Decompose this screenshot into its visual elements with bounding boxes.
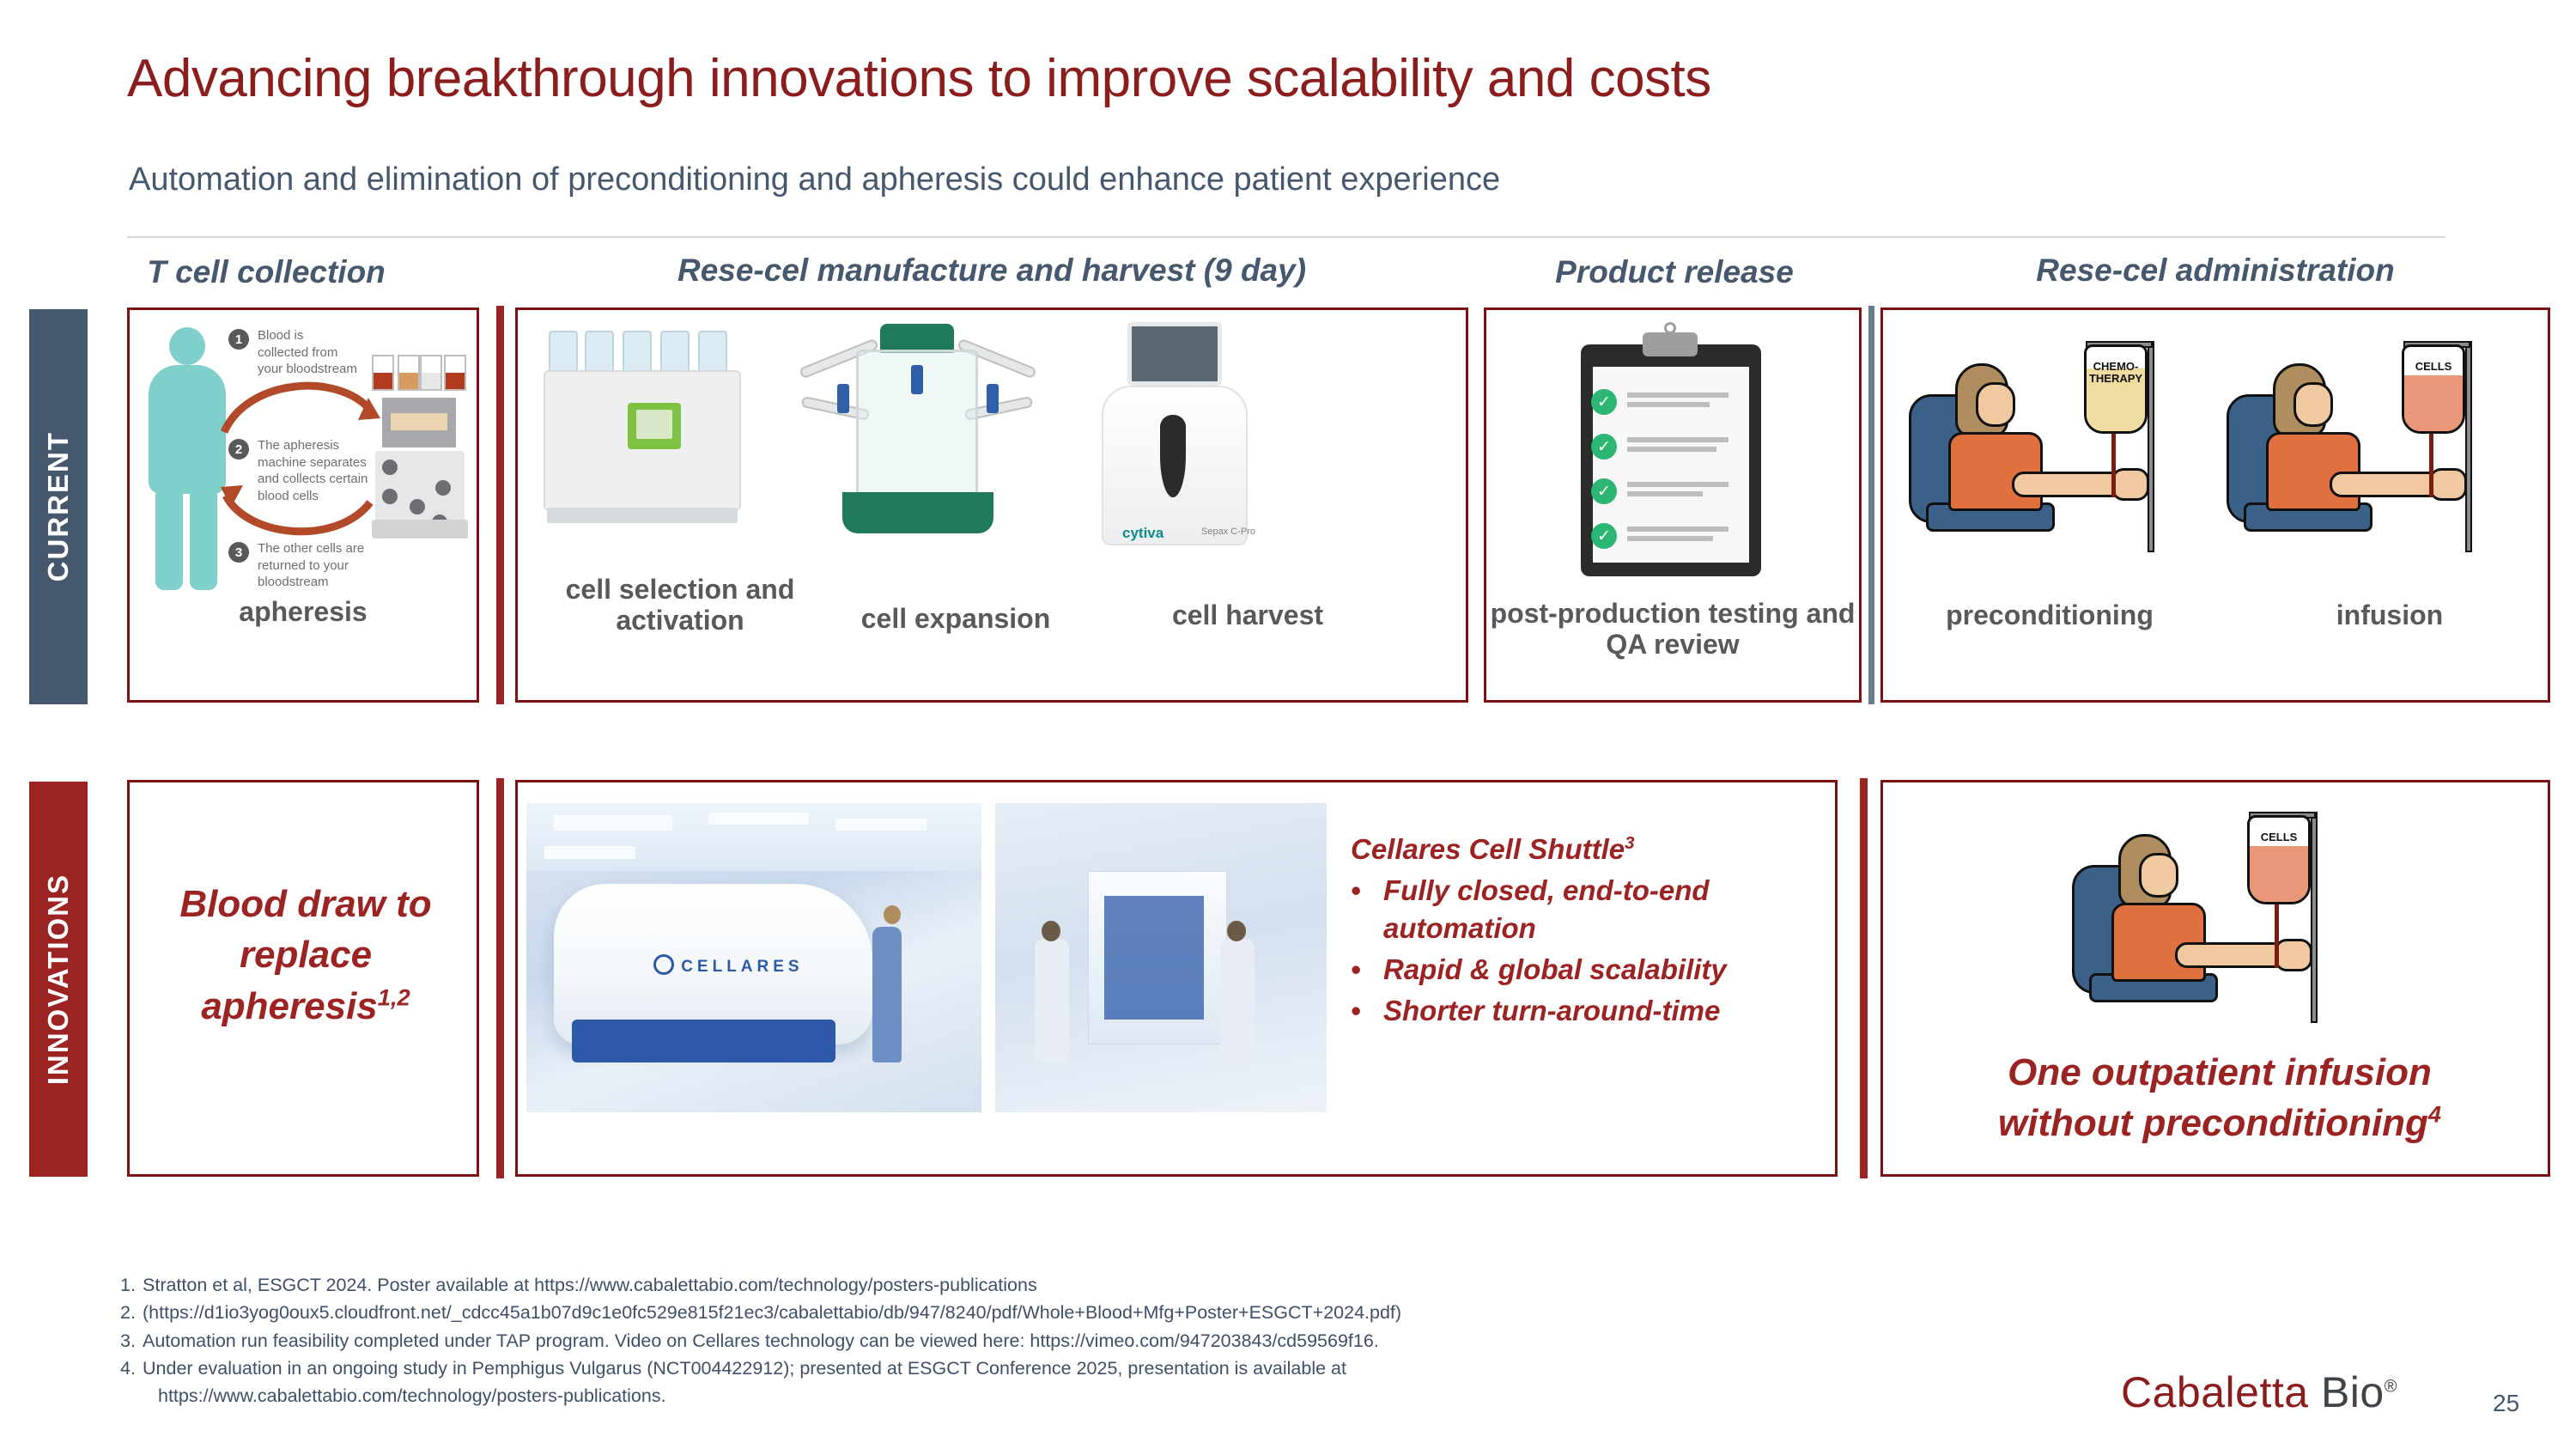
- apheresis-step-1: 1 Blood is collected from your bloodstre…: [228, 327, 357, 378]
- photo-cellares-brand: CELLARES: [681, 958, 803, 977]
- innovation-outpatient-line1: One outpatient infusion: [1892, 1047, 2548, 1098]
- logo-bio: Bio: [2321, 1368, 2385, 1416]
- iv-pole-icon: [2311, 812, 2318, 1023]
- panel-innovation-collection: Blood draw to replace apheresis1,2: [127, 780, 479, 1177]
- divider-innovation-2: [1860, 778, 1868, 1178]
- divider-current-2: [1868, 306, 1874, 704]
- page-subtitle: Automation and elimination of preconditi…: [129, 161, 1500, 198]
- caption-preconditioning: preconditioning: [1869, 600, 2230, 631]
- step-text-1: Blood is collected from your bloodstream: [258, 327, 357, 378]
- innovation-outpatient-text: One outpatient infusion without precondi…: [1892, 1047, 2548, 1149]
- footnote-number: 4.: [120, 1355, 143, 1382]
- row-label-innovations: INNOVATIONS: [29, 782, 88, 1177]
- step-text-3: The other cells are returned to your blo…: [258, 540, 366, 591]
- check-icon: ✓: [1591, 523, 1617, 549]
- cell-selection-machine-icon: [544, 331, 744, 533]
- innovation-cellares-heading: Cellares Cell Shuttle3: [1351, 831, 1814, 868]
- row-label-current-text: CURRENT: [42, 431, 75, 581]
- footnote-2: 2. (https://d1io3yog0oux5.cloudfront.net…: [120, 1299, 1923, 1326]
- iv-bag-cells-label: CELLS: [2250, 831, 2308, 843]
- panel-current-release: ✓ ✓ ✓ ✓ post-production testing and QA r…: [1484, 307, 1862, 703]
- divider-innovation-1: [496, 778, 504, 1178]
- footnote-text: (https://d1io3yog0oux5.cloudfront.net/_c…: [143, 1299, 1923, 1326]
- check-icon: ✓: [1591, 478, 1617, 504]
- caption-cell-selection: cell selection and activation: [538, 575, 822, 636]
- caption-post-production: post-production testing and QA review: [1490, 599, 1856, 661]
- bullet-text: Shorter turn-around-time: [1383, 992, 1814, 1030]
- column-header-product-release: Product release: [1485, 254, 1863, 290]
- page-title: Advancing breakthrough innovations to im…: [127, 48, 1711, 109]
- iv-tube: [2429, 434, 2433, 497]
- iv-bag-cells-label: CELLS: [2404, 361, 2463, 373]
- list-item: •Rapid & global scalability: [1351, 951, 1814, 989]
- iv-pole-icon: [2148, 341, 2154, 552]
- iv-tube: [2111, 434, 2116, 497]
- caption-infusion: infusion: [2218, 600, 2561, 631]
- caption-cell-harvest: cell harvest: [1110, 600, 1385, 631]
- panel-current-collection: 1 Blood is collected from your bloodstre…: [127, 307, 479, 703]
- iv-pole-icon: [2465, 341, 2472, 552]
- apheresis-step-3: 3 The other cells are returned to your b…: [228, 540, 366, 591]
- innovation-outpatient-line2-wrap: without preconditioning4: [1892, 1098, 2548, 1148]
- footnote-text: Automation run feasibility completed und…: [143, 1327, 1923, 1355]
- column-header-administration: Rese-cel administration: [1880, 253, 2550, 289]
- page-number: 25: [2493, 1390, 2519, 1417]
- innovation-blood-draw-text: Blood draw to replace apheresis1,2: [150, 879, 461, 1032]
- step-number-2: 2: [228, 439, 249, 460]
- photo-cellares-lab: [995, 803, 1327, 1112]
- caption-cell-expansion: cell expansion: [810, 604, 1102, 635]
- panel-innovation-manufacture: CELLARES Cellares Cell Shuttle3 •Fully c…: [515, 780, 1838, 1177]
- step-number-3: 3: [228, 542, 249, 563]
- footnotes: 1. Stratton et al, ESGCT 2024. Poster av…: [120, 1271, 1923, 1409]
- apheresis-machine-icon: [372, 348, 468, 545]
- iv-tube: [2275, 904, 2279, 968]
- row-label-current: CURRENT: [29, 309, 88, 704]
- caption-apheresis: apheresis: [130, 597, 477, 628]
- check-icon: ✓: [1591, 389, 1617, 415]
- apheresis-diagram: 1 Blood is collected from your bloodstre…: [130, 310, 477, 594]
- bullet-icon: •: [1351, 992, 1383, 1030]
- bullet-icon: •: [1351, 951, 1383, 989]
- slide: Advancing breakthrough innovations to im…: [0, 0, 2576, 1449]
- qa-clipboard-icon: ✓ ✓ ✓ ✓: [1581, 344, 1761, 576]
- iv-bag-cells: CELLS: [2402, 344, 2465, 434]
- photo-cellares-cell-shuttle: CELLARES: [526, 803, 981, 1112]
- footnote-number: 3.: [120, 1327, 143, 1355]
- logo-registered-mark: ®: [2385, 1377, 2397, 1396]
- footnote-text: Under evaluation in an ongoing study in …: [143, 1355, 1923, 1382]
- logo-cabaletta: Cabaletta: [2121, 1368, 2309, 1416]
- footnote-3: 3. Automation run feasibility completed …: [120, 1327, 1923, 1355]
- innovation-blood-draw-superscript: 1,2: [378, 983, 410, 1010]
- step-number-1: 1: [228, 329, 249, 350]
- bullet-icon: •: [1351, 872, 1383, 947]
- panel-current-administration: CHEMO-THERAPY CELLS preconditioning infu…: [1880, 307, 2550, 703]
- bioreactor-icon: [827, 324, 1009, 539]
- footnote-1: 1. Stratton et al, ESGCT 2024. Poster av…: [120, 1271, 1923, 1299]
- footnote-text: Stratton et al, ESGCT 2024. Poster avail…: [143, 1271, 1923, 1299]
- panel-current-manufacture: cytiva Sepax C-Pro cell selection and ac…: [515, 307, 1468, 703]
- innovation-cellares-bullets: •Fully closed, end-to-end automation •Ra…: [1351, 872, 1814, 1030]
- column-header-manufacture: Rese-cel manufacture and harvest (9 day): [515, 253, 1468, 289]
- footnote-number: 1.: [120, 1271, 143, 1299]
- panel-innovation-administration: CELLS One outpatient infusion without pr…: [1880, 780, 2550, 1177]
- innovation-outpatient-superscript: 4: [2428, 1101, 2441, 1128]
- innovation-cellares-heading-label: Cellares Cell Shuttle: [1351, 833, 1625, 865]
- iv-bag-chemo-label: CHEMO-THERAPY: [2087, 361, 2145, 386]
- step-text-2: The apheresis machine separates and coll…: [258, 437, 379, 504]
- bullet-text: Rapid & global scalability: [1383, 951, 1814, 989]
- list-item: •Fully closed, end-to-end automation: [1351, 872, 1814, 947]
- row-label-innovations-text: INNOVATIONS: [42, 874, 75, 1085]
- list-item: •Shorter turn-around-time: [1351, 992, 1814, 1030]
- apheresis-step-2: 2 The apheresis machine separates and co…: [228, 437, 379, 504]
- harvester-brand: cytiva: [1122, 525, 1163, 542]
- innovation-cellares-heading-superscript: 3: [1625, 833, 1634, 853]
- footnote-4: 4. Under evaluation in an ongoing study …: [120, 1355, 1923, 1382]
- patient-silhouette-icon: [143, 327, 219, 576]
- footnote-4-continuation: https://www.cabalettabio.com/technology/…: [158, 1382, 1923, 1409]
- check-icon: ✓: [1591, 434, 1617, 460]
- bullet-text: Fully closed, end-to-end automation: [1383, 872, 1814, 947]
- innovation-outpatient-line2: without preconditioning: [1998, 1102, 2428, 1144]
- innovation-cellares-text-block: Cellares Cell Shuttle3 •Fully closed, en…: [1351, 831, 1814, 1029]
- iv-bag-cells: CELLS: [2247, 815, 2311, 904]
- cell-harvester-icon: cytiva Sepax C-Pro: [1093, 322, 1256, 547]
- divider-current-1: [496, 306, 504, 704]
- column-header-t-cell-collection: T cell collection: [94, 254, 438, 290]
- harvester-model: Sepax C-Pro: [1201, 527, 1255, 537]
- footnote-number: 2.: [120, 1299, 143, 1326]
- company-logo: Cabaletta Bio®: [2121, 1367, 2397, 1417]
- header-divider: [127, 236, 2445, 238]
- iv-bag-chemo: CHEMO-THERAPY: [2084, 344, 2148, 434]
